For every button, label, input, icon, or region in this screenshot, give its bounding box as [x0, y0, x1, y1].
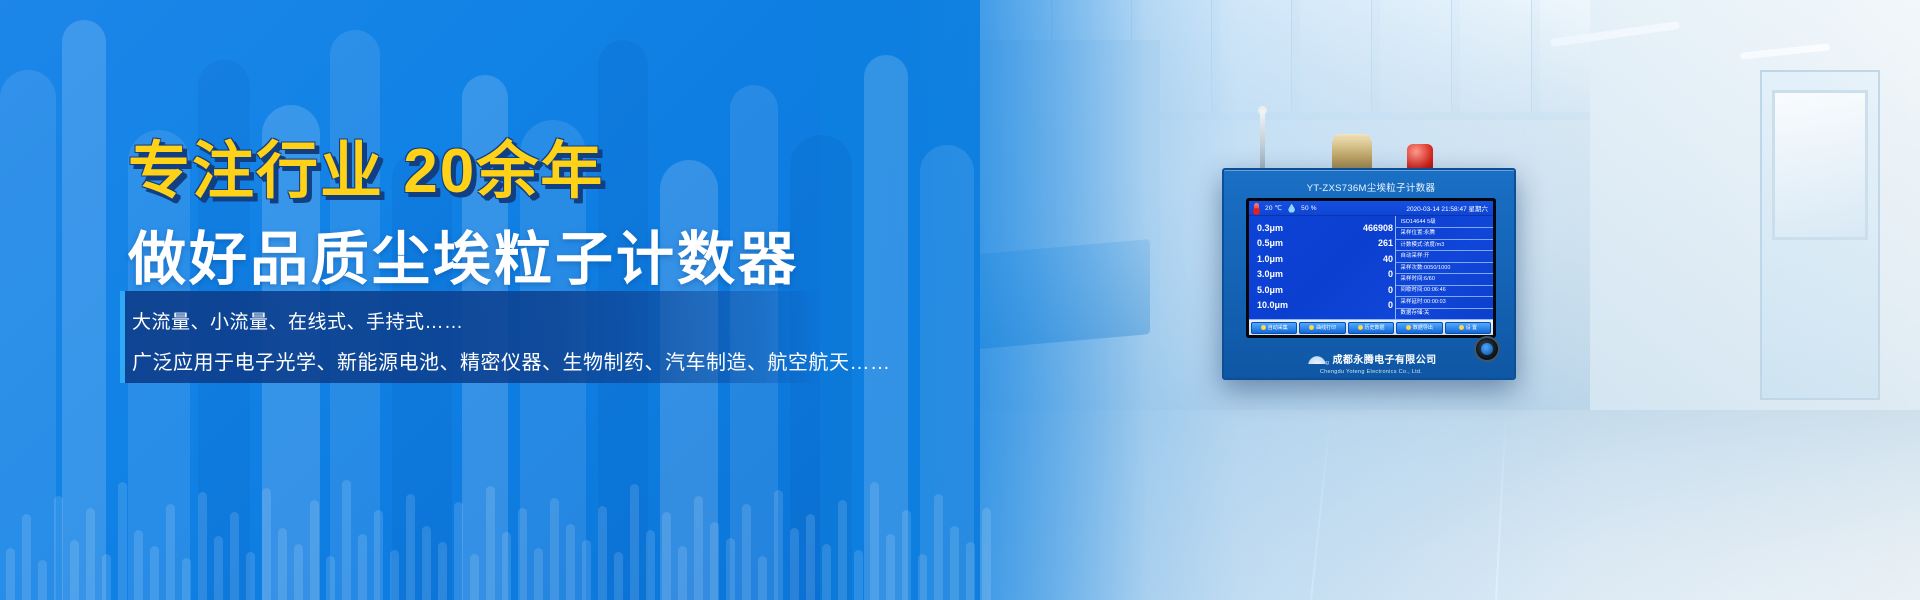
table-row: 10.0μm 0	[1257, 298, 1395, 314]
list-item[interactable]: 采样位置:永腾	[1396, 228, 1493, 239]
settings-button[interactable]: 设 置	[1445, 322, 1491, 334]
brand-name-en: Chengdu Yoteng Electronics Co., Ltd.	[1224, 369, 1518, 375]
table-row: 1.0μm 40	[1257, 251, 1395, 267]
data-export-button[interactable]: 数据导出	[1396, 322, 1442, 334]
particle-size: 10.0μm	[1257, 300, 1315, 310]
clock-icon	[1358, 325, 1363, 330]
list-item[interactable]: 计数模式:浓度/m3	[1396, 240, 1493, 251]
particle-size: 0.3μm	[1257, 223, 1315, 233]
temperature-value: 20 ℃	[1265, 204, 1282, 212]
particle-size: 1.0μm	[1257, 254, 1315, 264]
thermometer-icon	[1254, 203, 1259, 213]
particle-count: 40	[1315, 254, 1393, 264]
particle-count: 466908	[1315, 223, 1393, 233]
list-item[interactable]: 自动采样:开	[1396, 251, 1493, 262]
table-row: 0.3μm 466908	[1257, 220, 1395, 236]
list-item[interactable]: 采样延时:00:00:03	[1396, 297, 1493, 308]
device-body: YT-ZXS736M尘埃粒子计数器 20 ℃ 50 % 2020-03-14 2…	[1222, 168, 1516, 380]
table-row: 5.0μm 0	[1257, 282, 1395, 298]
table-row: 3.0μm 0	[1257, 267, 1395, 283]
table-row: 0.5μm 261	[1257, 236, 1395, 252]
water-drop-icon	[1288, 204, 1295, 213]
screen-status-bar: 20 ℃ 50 % 2020-03-14 21:58:47 星期六	[1249, 201, 1493, 216]
banner-copy: 专注行业 20余年 做好品质尘埃粒子计数器 大流量、小流量、在线式、手持式…… …	[0, 0, 900, 600]
play-icon	[1261, 325, 1266, 330]
brand-name-cn: 成都永腾电子有限公司	[1333, 351, 1437, 366]
history-data-button[interactable]: 历史数据	[1348, 322, 1394, 334]
sampling-port	[1332, 138, 1372, 170]
screen-bezel: 20 ℃ 50 % 2020-03-14 21:58:47 星期六 0.3μm …	[1246, 198, 1496, 338]
gear-icon	[1459, 325, 1464, 330]
button-label: 自动采集	[1268, 324, 1288, 331]
curve-print-button[interactable]: 曲线打印	[1299, 322, 1345, 334]
settings-list: ISO14644 5级 采样位置:永腾 计数模式:浓度/m3 自动采样:开 采样…	[1395, 216, 1493, 319]
particle-count: 0	[1315, 285, 1393, 295]
export-icon	[1406, 325, 1411, 330]
list-item[interactable]: 数据存储:关	[1396, 309, 1493, 319]
banner-subheadline: 做好品质尘埃粒子计数器	[128, 212, 799, 296]
particle-size: 0.5μm	[1257, 238, 1315, 248]
datetime-value: 2020-03-14 21:58:47 星期六	[1406, 203, 1488, 213]
particle-count: 261	[1315, 238, 1393, 248]
logo-icon	[1306, 354, 1328, 364]
device-model-label: YT-ZXS736M尘埃粒子计数器	[1224, 180, 1518, 194]
button-label: 历史数据	[1365, 324, 1385, 331]
list-item[interactable]: 采样次数:0050/1000	[1396, 263, 1493, 274]
particle-size: 5.0μm	[1257, 285, 1315, 295]
particle-readout-table: 0.3μm 466908 0.5μm 261 1.0μm 40	[1249, 216, 1395, 319]
list-item[interactable]: ISO14644 5级	[1396, 217, 1493, 228]
alarm-lamp-icon	[1407, 144, 1433, 170]
list-item[interactable]: 采样时间:6/60	[1396, 274, 1493, 285]
screen-body: 0.3μm 466908 0.5μm 261 1.0μm 40	[1249, 216, 1493, 319]
banner-stage: 专注行业 20余年 做好品质尘埃粒子计数器 大流量、小流量、在线式、手持式…… …	[0, 0, 1920, 600]
button-label: 数据导出	[1413, 324, 1433, 331]
chart-icon	[1309, 325, 1314, 330]
banner-headline: 专注行业 20余年	[128, 120, 604, 210]
particle-counter-device: YT-ZXS736M尘埃粒子计数器 20 ℃ 50 % 2020-03-14 2…	[1222, 168, 1516, 380]
button-label: 设 置	[1466, 324, 1477, 331]
button-label: 曲线打印	[1316, 324, 1336, 331]
screen-button-bar: 自动采集 曲线打印 历史数据 数据导出	[1249, 319, 1493, 335]
auto-sample-button[interactable]: 自动采集	[1251, 322, 1297, 334]
list-item[interactable]: 间歇时间:00:06:46	[1396, 286, 1493, 297]
particle-size: 3.0μm	[1257, 269, 1315, 279]
power-dial[interactable]	[1474, 336, 1500, 362]
particle-count: 0	[1315, 300, 1393, 310]
device-screen[interactable]: 20 ℃ 50 % 2020-03-14 21:58:47 星期六 0.3μm …	[1249, 201, 1493, 335]
particle-count: 0	[1315, 269, 1393, 279]
panel-accent-edge	[120, 291, 125, 383]
antenna-icon	[1260, 110, 1265, 170]
description-line-2: 广泛应用于电子光学、新能源电池、精密仪器、生物制药、汽车制造、航空航天……	[132, 346, 891, 375]
humidity-value: 50 %	[1301, 205, 1317, 212]
description-line-1: 大流量、小流量、在线式、手持式……	[132, 307, 464, 334]
